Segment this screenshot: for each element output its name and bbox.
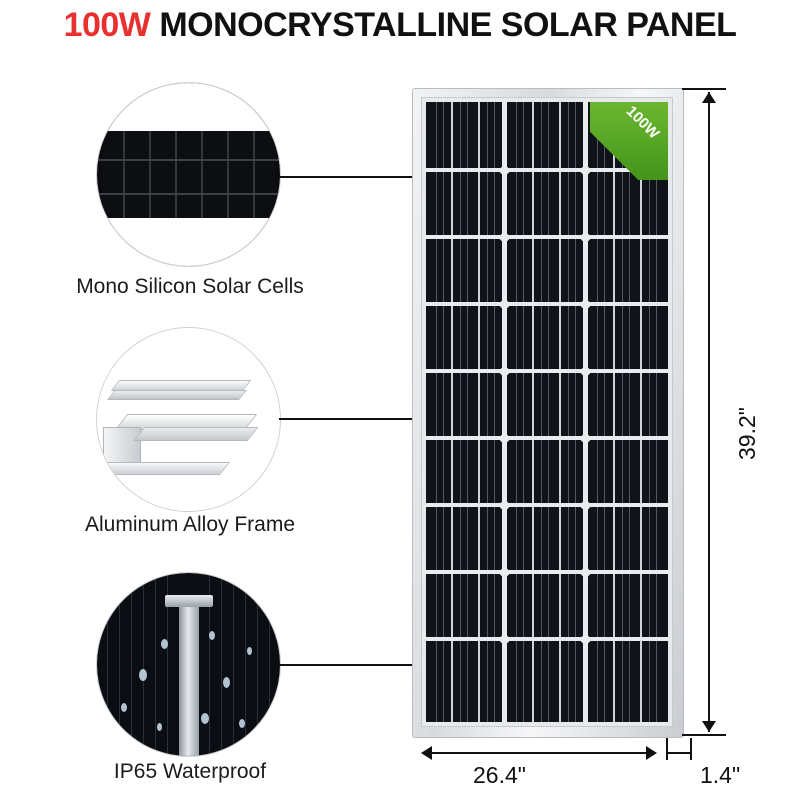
dim-tick-thickness-left bbox=[666, 738, 668, 760]
dim-label-height: 39.2" bbox=[734, 407, 761, 460]
callout-label-ip65-waterproof: IP65 Waterproof bbox=[40, 760, 340, 784]
dim-line-width bbox=[424, 752, 654, 754]
dim-label-width: 26.4" bbox=[473, 762, 526, 789]
dim-tick-thickness-right bbox=[690, 738, 692, 760]
leader-line-frame bbox=[279, 418, 425, 420]
dim-arrow-down bbox=[702, 721, 716, 732]
solar-cell-closeup-image bbox=[96, 82, 281, 267]
cell-row-gap bbox=[426, 235, 668, 239]
dim-arrow-left bbox=[421, 746, 432, 760]
cell-busbar bbox=[559, 102, 561, 722]
waterproof-closeup-art bbox=[97, 573, 280, 756]
title-power: 100W bbox=[64, 6, 151, 44]
cell-row-gap bbox=[426, 637, 668, 641]
power-badge: 100W bbox=[590, 102, 668, 180]
dim-line-thickness bbox=[666, 752, 692, 754]
frame-closeup-art bbox=[97, 328, 280, 511]
cell-row-gap bbox=[426, 503, 668, 507]
callout-label-mono-silicon-solar-cells: Mono Silicon Solar Cells bbox=[40, 275, 340, 299]
cell-row-gap bbox=[426, 369, 668, 373]
waterproof-closeup-image bbox=[96, 572, 281, 757]
cell-closeup-art bbox=[97, 83, 280, 266]
dim-line-height bbox=[708, 92, 710, 732]
cell-column-gap bbox=[502, 102, 507, 722]
dim-arrow-right bbox=[646, 746, 657, 760]
title-rest: MONOCRYSTALLINE SOLAR PANEL bbox=[150, 6, 736, 44]
cell-row-gap bbox=[426, 570, 668, 574]
cell-row-gap bbox=[426, 436, 668, 440]
aluminum-frame-closeup-image bbox=[96, 327, 281, 512]
cell-busbar bbox=[532, 102, 534, 722]
panel-glass-surface: 100W bbox=[426, 102, 668, 722]
dim-tick-top bbox=[682, 88, 726, 90]
leader-line-cells bbox=[279, 176, 425, 178]
cell-busbar bbox=[478, 102, 480, 722]
cell-busbar bbox=[640, 102, 642, 722]
dim-arrow-up bbox=[702, 92, 716, 103]
cell-busbar bbox=[613, 102, 615, 722]
cell-column-gap bbox=[583, 102, 588, 722]
page-title: 100W MONOCRYSTALLINE SOLAR PANEL bbox=[0, 6, 800, 45]
callout-label-aluminum-alloy-frame: Aluminum Alloy Frame bbox=[40, 513, 340, 537]
cell-row-gap bbox=[426, 302, 668, 306]
dim-tick-bottom bbox=[682, 734, 726, 736]
solar-panel-image: 100W bbox=[412, 88, 682, 736]
cell-busbar bbox=[451, 102, 453, 722]
dim-label-thickness: 1.4" bbox=[700, 762, 740, 789]
